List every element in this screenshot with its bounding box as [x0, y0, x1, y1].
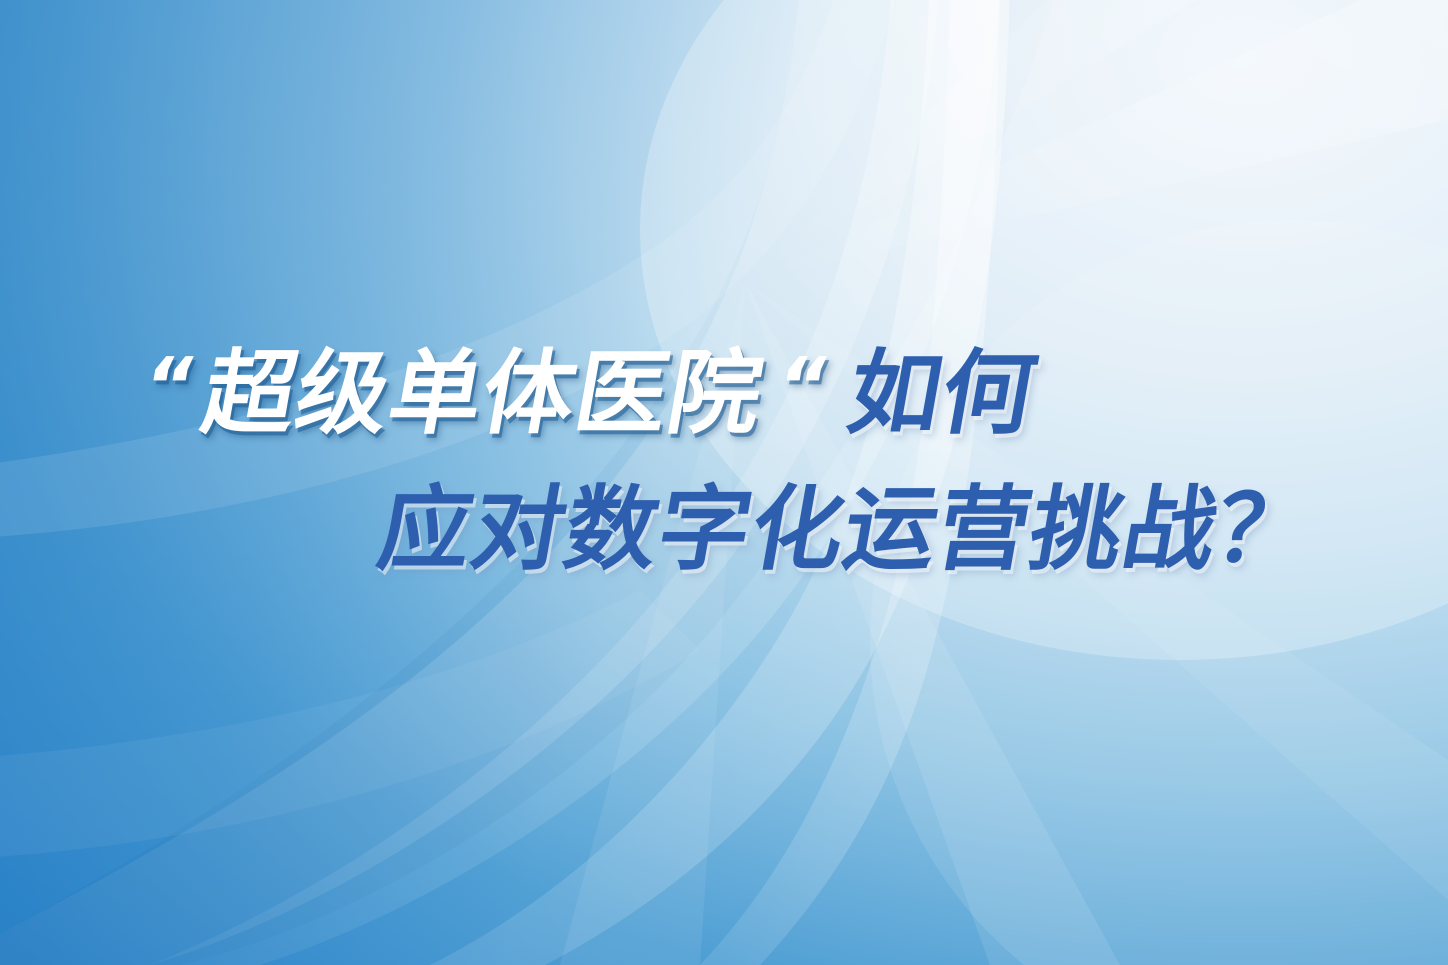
title-line-1-white-text: 超级单体医院	[196, 348, 770, 440]
title-line-1: “超级单体医院“如何	[135, 348, 1044, 440]
title-line-2-text: 应对数字化运营挑战？	[372, 484, 1318, 576]
closing-quote-mark: “	[771, 348, 832, 426]
opening-quote-mark: “	[137, 348, 198, 426]
title-line-1-blue-text: 如何	[841, 348, 1043, 440]
title-block: “超级单体医院“如何 应对数字化运营挑战？	[0, 0, 1448, 965]
title-line-2: 应对数字化运营挑战？	[372, 484, 1318, 576]
banner-canvas: “超级单体医院“如何 应对数字化运营挑战？	[0, 0, 1448, 965]
